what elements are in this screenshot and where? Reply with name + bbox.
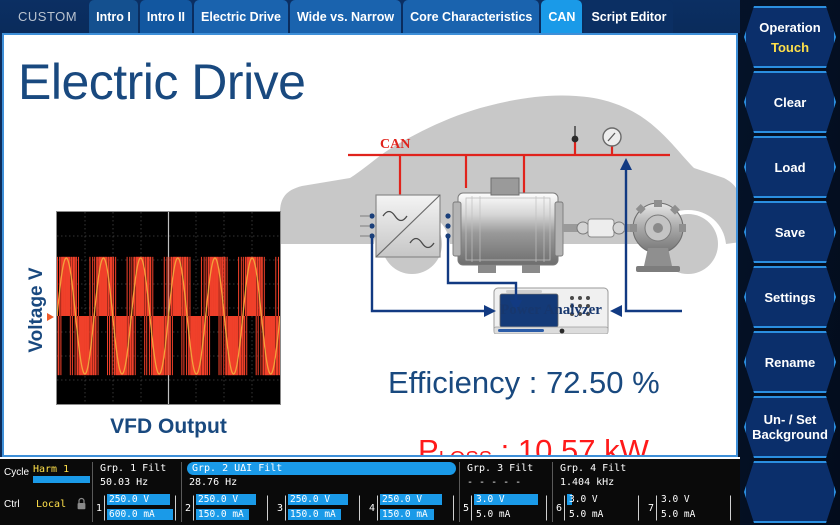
oscilloscope-block: Voltage V xyxy=(14,207,299,455)
pwm-pulse xyxy=(166,257,167,316)
sidebar-button-label: Load xyxy=(774,160,805,175)
pwm-pulse xyxy=(133,316,134,375)
element-voltage-value: 3.0 V xyxy=(567,494,598,505)
pwm-pulse xyxy=(170,316,171,375)
cycle-value[interactable]: Harm 1 xyxy=(33,464,69,475)
element-number: 1 xyxy=(96,503,102,514)
pwm-pulse xyxy=(129,257,130,316)
ctrl-label: Ctrl xyxy=(4,499,20,510)
pwm-pulse xyxy=(201,257,202,316)
element-voltage-value: 250.0 V xyxy=(196,494,238,505)
element-number: 5 xyxy=(463,503,469,514)
pwm-pulse xyxy=(172,316,173,375)
pwm-pulse xyxy=(238,257,239,316)
pwm-pulse xyxy=(264,257,265,316)
tab-label: CAN xyxy=(548,10,575,24)
tab-label: Core Characteristics xyxy=(410,10,532,24)
pwm-pulse xyxy=(89,316,90,375)
pwm-pulse xyxy=(126,316,127,375)
tab-label: Wide vs. Narrow xyxy=(297,10,394,24)
tab-intro-ii[interactable]: Intro II xyxy=(140,0,192,33)
element-cell-4[interactable]: 4250.0 V150.0 mA xyxy=(369,492,462,524)
pwm-pulse xyxy=(164,257,165,316)
page-title: Electric Drive xyxy=(18,53,305,111)
cycle-label: Cycle xyxy=(4,467,29,478)
scope-caption: VFD Output xyxy=(56,415,281,439)
sidebar-button-rename[interactable]: Rename xyxy=(744,331,836,393)
sidebar-button-label: Clear xyxy=(774,95,807,110)
element-voltage-value: 250.0 V xyxy=(288,494,330,505)
pwm-pulse xyxy=(200,316,201,375)
pwm-pulse xyxy=(98,316,99,375)
group-frequency-value: 28.76 Hz xyxy=(189,477,237,488)
element-current-value: 5.0 mA xyxy=(567,509,603,520)
element-cell-6[interactable]: 63.0 V5.0 mA xyxy=(556,492,647,524)
sidebar-button-label: Un- / SetBackground xyxy=(752,412,828,442)
element-current-value: 5.0 mA xyxy=(659,509,695,520)
pwm-pulse xyxy=(258,316,259,375)
pwm-pulse xyxy=(109,316,110,375)
sidebar-button-label: Rename xyxy=(765,355,816,370)
waveform-display[interactable] xyxy=(56,211,281,405)
pwm-pulse xyxy=(58,316,59,375)
element-current-value: 150.0 mA xyxy=(380,509,428,520)
pwm-pulse xyxy=(275,316,276,375)
pwm-pulse xyxy=(227,257,228,316)
pwm-pulse xyxy=(89,257,90,316)
element-cell-7[interactable]: 73.0 V5.0 mA xyxy=(648,492,739,524)
pwm-pulse xyxy=(246,316,247,375)
pwm-pulse xyxy=(150,257,151,316)
pwm-pulse xyxy=(72,316,73,375)
lock-icon[interactable] xyxy=(76,497,87,510)
element-voltage-value: 250.0 V xyxy=(380,494,422,505)
group-frequency-value: 50.03 Hz xyxy=(100,477,148,488)
tab-wide-vs-narrow[interactable]: Wide vs. Narrow xyxy=(290,0,401,33)
ploss-separator: : xyxy=(492,433,518,457)
tab-intro-i[interactable]: Intro I xyxy=(89,0,138,33)
element-voltage-value: 250.0 V xyxy=(107,494,149,505)
group-header-label: Grp. 4 Filt xyxy=(560,463,626,474)
status-bar: Cycle Harm 1 Ctrl Local Grp. 1 Filt50.03… xyxy=(0,459,740,525)
scope-y-axis-label: Voltage V xyxy=(26,245,48,375)
sidebar-button-label: Operation xyxy=(759,20,820,35)
element-cell-5[interactable]: 53.0 V5.0 mA xyxy=(463,492,555,524)
right-sidebar: OperationTouchClearLoadSaveSettingsRenam… xyxy=(740,0,840,525)
pwm-pulse xyxy=(183,316,184,375)
pwm-pulse xyxy=(78,257,79,316)
group-header-label: Grp. 1 Filt xyxy=(100,463,166,474)
status-divider-1 xyxy=(92,462,93,522)
app-root: CUSTOM Intro IIntro IIElectric DriveWide… xyxy=(0,0,840,525)
pwm-pulse xyxy=(209,316,210,375)
element-voltage-value: 3.0 V xyxy=(474,494,505,505)
car-schematic-svg: CAN xyxy=(280,38,738,334)
pwm-pulse xyxy=(152,257,153,316)
can-label: CAN xyxy=(380,137,410,152)
tab-label: Electric Drive xyxy=(201,10,281,24)
efficiency-label: Efficiency : xyxy=(388,365,537,400)
group-frequency-value: - - - - - xyxy=(467,477,521,488)
cycle-indicator-bar xyxy=(33,476,90,483)
pwm-pulse xyxy=(135,316,136,375)
power-analyzer-label: Power Analyzer xyxy=(500,302,602,318)
element-cell-2[interactable]: 2250.0 V150.0 mA xyxy=(185,492,276,524)
pwm-pulse xyxy=(219,316,220,375)
tab-label: Intro II xyxy=(147,10,185,24)
tab-electric-drive[interactable]: Electric Drive xyxy=(194,0,288,33)
pwm-pulse xyxy=(223,316,224,375)
drivetrain-diagram: CAN xyxy=(280,38,738,334)
status-divider-2 xyxy=(181,462,182,522)
status-divider-3 xyxy=(459,462,460,522)
waveform-svg xyxy=(57,212,280,404)
group-frequency-value: 1.404 kHz xyxy=(560,477,614,488)
pwm-pulse xyxy=(241,257,242,316)
pwm-pulse xyxy=(187,257,188,316)
pwm-pulse xyxy=(244,316,245,375)
pwm-pulse xyxy=(127,257,128,316)
pwm-pulse xyxy=(189,257,190,316)
power-loss-readout: PLOSS : 10.57 kW xyxy=(418,433,649,457)
pwm-pulse xyxy=(204,257,205,316)
element-voltage-value: 3.0 V xyxy=(659,494,690,505)
sidebar-button-empty-7[interactable] xyxy=(744,461,836,523)
element-number: 6 xyxy=(556,503,562,514)
pwm-pulse xyxy=(107,316,108,375)
pwm-pulse xyxy=(144,316,145,375)
pwm-pulse xyxy=(70,316,71,375)
pwm-pulse xyxy=(181,316,182,375)
pwm-pulse xyxy=(237,316,238,375)
status-divider-4 xyxy=(552,462,553,522)
pwm-pulse xyxy=(221,316,222,375)
sidebar-button-settings[interactable]: Settings xyxy=(744,266,836,328)
element-current-value: 600.0 mA xyxy=(107,509,155,520)
pwm-pulse xyxy=(146,316,147,375)
tab-core-characteristics[interactable]: Core Characteristics xyxy=(403,0,539,33)
ploss-symbol: P xyxy=(418,433,439,457)
sidebar-button-clear[interactable]: Clear xyxy=(744,71,836,133)
element-number: 7 xyxy=(648,503,654,514)
sidebar-button-operation[interactable]: OperationTouch xyxy=(744,6,836,68)
main-content-panel: Electric Drive xyxy=(2,33,738,457)
efficiency-value: 72.50 % xyxy=(546,365,660,400)
pwm-pulse xyxy=(163,316,164,375)
pwm-pulse xyxy=(112,316,113,375)
tab-list: Intro IIntro IIElectric DriveWide vs. Na… xyxy=(89,0,675,33)
element-number: 3 xyxy=(277,503,283,514)
pwm-pulse xyxy=(207,316,208,375)
pwm-pulse xyxy=(96,316,97,375)
element-number: 4 xyxy=(369,503,375,514)
custom-label: CUSTOM xyxy=(0,0,89,33)
sidebar-button-label: Settings xyxy=(764,290,815,305)
ploss-value: 10.57 kW xyxy=(518,433,649,457)
tab-script-editor[interactable]: Script Editor xyxy=(584,0,673,33)
pwm-pulse xyxy=(115,257,116,316)
element-cell-1[interactable]: 1250.0 V600.0 mA xyxy=(96,492,184,524)
sidebar-button-sublabel: Touch xyxy=(771,40,809,55)
pwm-pulse xyxy=(186,316,187,375)
pwm-pulse xyxy=(225,257,226,316)
pwm-pulse xyxy=(275,257,276,316)
pwm-pulse xyxy=(92,257,93,316)
ploss-subscript: LOSS xyxy=(439,448,492,457)
pwm-pulse xyxy=(260,316,261,375)
efficiency-readout: Efficiency : 72.50 % xyxy=(388,365,660,401)
sidebar-button-save[interactable]: Save xyxy=(744,201,836,263)
pwm-pulse xyxy=(256,316,257,375)
pwm-pulse xyxy=(278,257,279,316)
pwm-pulse xyxy=(262,257,263,316)
element-current-value: 5.0 mA xyxy=(474,509,510,520)
element-current-value: 150.0 mA xyxy=(196,509,244,520)
tab-label: Intro I xyxy=(96,10,131,24)
pwm-pulse xyxy=(149,316,150,375)
element-number: 2 xyxy=(185,503,191,514)
sidebar-button-label: Save xyxy=(775,225,805,240)
tab-bar: CUSTOM Intro IIntro IIElectric DriveWide… xyxy=(0,0,740,33)
pwm-pulse xyxy=(75,316,76,375)
pwm-pulse xyxy=(60,316,61,375)
tab-label: Script Editor xyxy=(591,10,666,24)
sidebar-button-un-set-background[interactable]: Un- / SetBackground xyxy=(744,396,836,458)
element-current-value: 150.0 mA xyxy=(288,509,336,520)
tab-can[interactable]: CAN xyxy=(541,0,582,33)
element-cell-3[interactable]: 3250.0 V150.0 mA xyxy=(277,492,368,524)
pwm-pulse xyxy=(76,257,77,316)
group-header-label: Grp. 2 UΔI Filt xyxy=(187,462,456,475)
group-header-label: Grp. 3 Filt xyxy=(467,463,533,474)
pwm-pulse xyxy=(113,257,114,316)
sidebar-button-load[interactable]: Load xyxy=(744,136,836,198)
ctrl-value[interactable]: Local xyxy=(36,499,66,510)
trigger-level-marker xyxy=(47,313,54,321)
